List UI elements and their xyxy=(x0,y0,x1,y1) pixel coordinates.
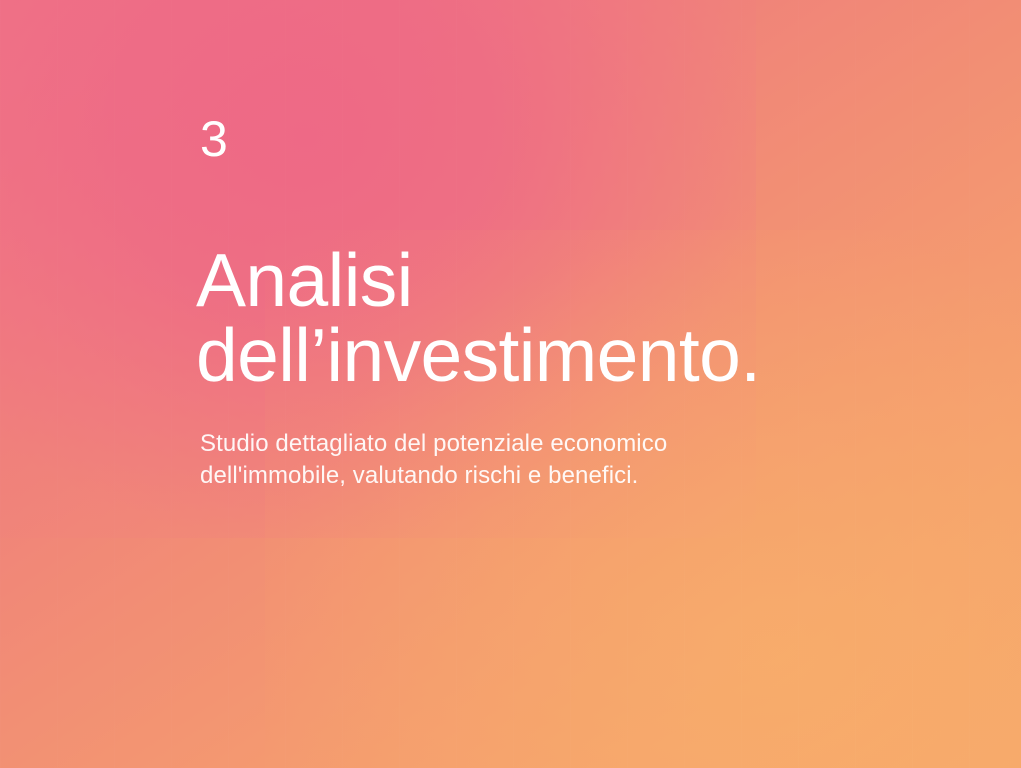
slide-subtitle: Studio dettagliato del potenziale econom… xyxy=(200,428,840,492)
slide-canvas: 3 Analisi dell’investimento. Studio dett… xyxy=(0,0,1021,768)
section-number: 3 xyxy=(200,114,228,164)
slide-content: 3 Analisi dell’investimento. Studio dett… xyxy=(200,0,960,768)
slide-title: Analisi dell’investimento. xyxy=(196,243,760,393)
